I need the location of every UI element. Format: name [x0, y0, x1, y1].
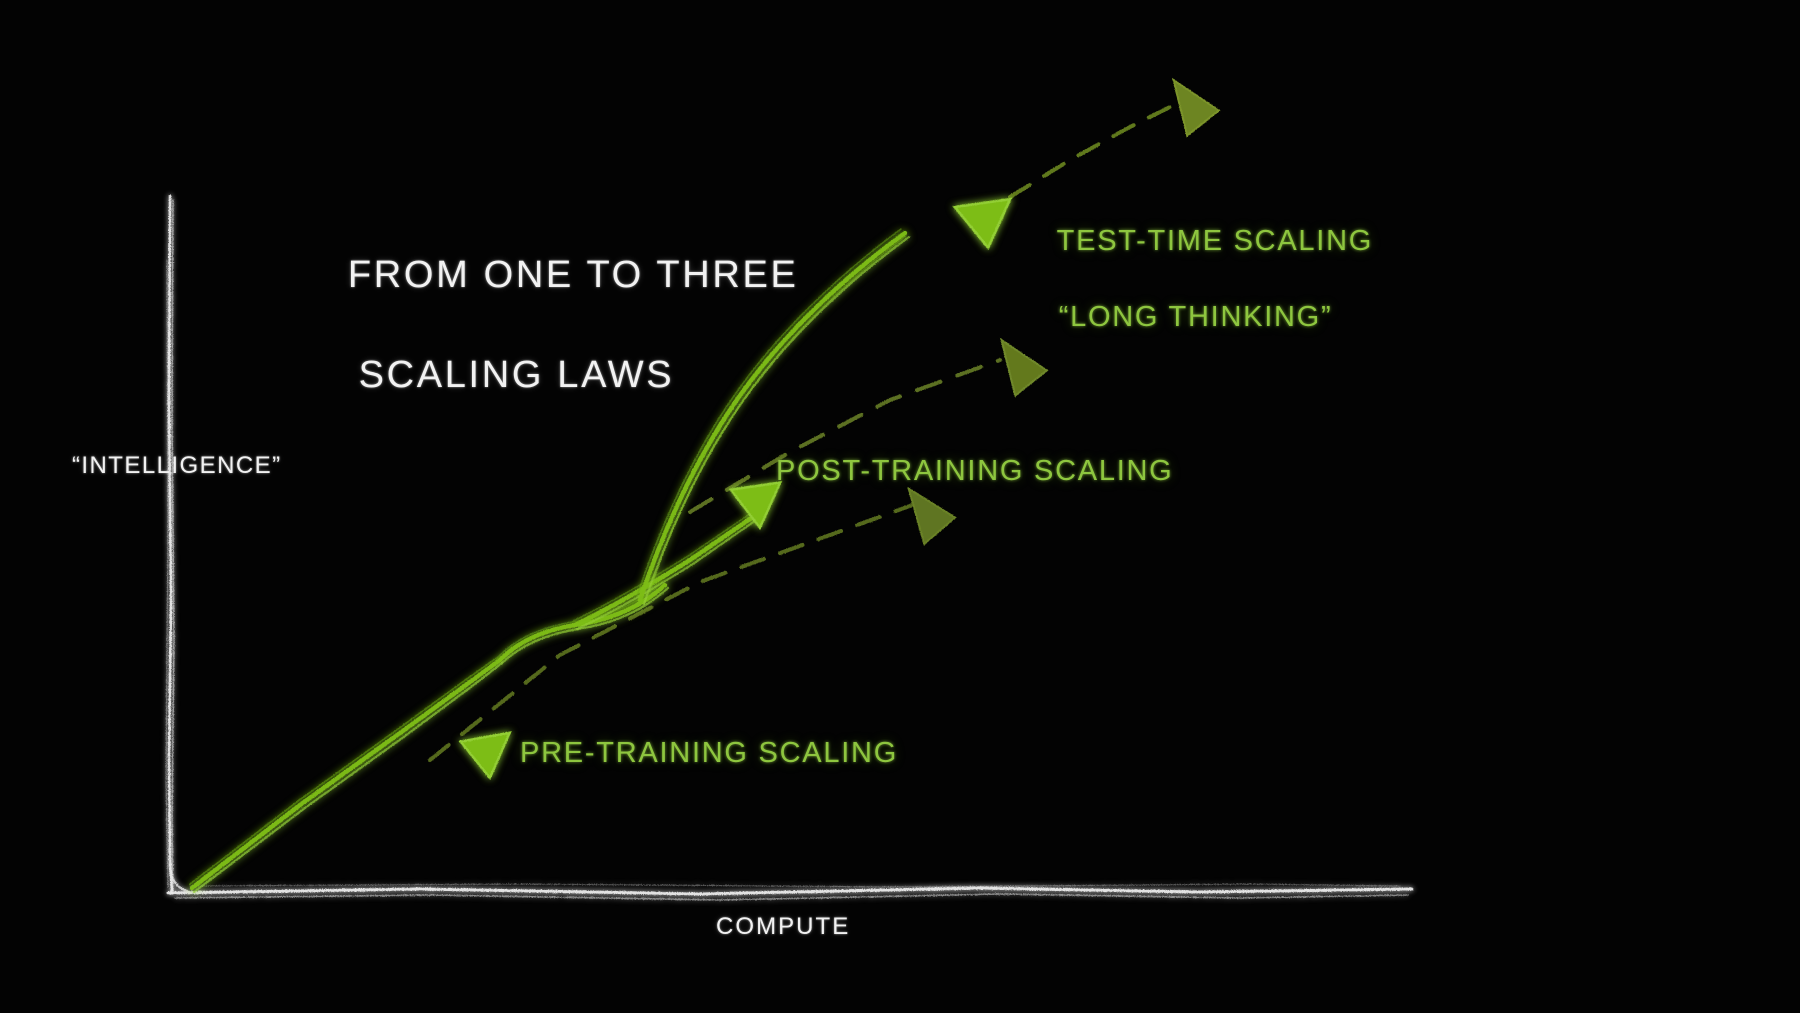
chalkboard-canvas: FROM ONE TO THREE SCALING LAWS “INTELLIG…: [0, 0, 1800, 1013]
post-training-arrowhead: [731, 482, 785, 530]
test-time-dashed-arrow: [1010, 68, 1222, 197]
test-time-scaling-label-line-1: TEST-TIME SCALING: [1057, 225, 1373, 257]
pre-training-arrowhead: [460, 733, 515, 782]
test-time-arrowhead: [954, 199, 1015, 251]
title-line-2: SCALING LAWS: [359, 354, 675, 396]
title-line-1: FROM ONE TO THREE: [348, 254, 799, 296]
pre-training-scaling-label: PRE-TRAINING SCALING: [520, 737, 898, 770]
x-axis-label: COMPUTE: [716, 913, 850, 941]
y-axis: [166, 196, 174, 893]
pre-training-dashed-arrow: [430, 476, 958, 760]
scaling-laws-chart: [0, 0, 1800, 1013]
post-training-scaling-label: POST-TRAINING SCALING: [776, 455, 1173, 488]
test-time-scaling-label: TEST-TIME SCALING “LONG THINKING”: [1018, 184, 1373, 412]
y-axis-label: “INTELLIGENCE”: [72, 452, 282, 480]
test-time-scaling-label-line-2: “LONG THINKING”: [1018, 298, 1373, 336]
pre-training-curve: [190, 657, 502, 892]
page-title: FROM ONE TO THREE SCALING LAWS: [295, 200, 685, 450]
x-axis: [168, 884, 1412, 900]
